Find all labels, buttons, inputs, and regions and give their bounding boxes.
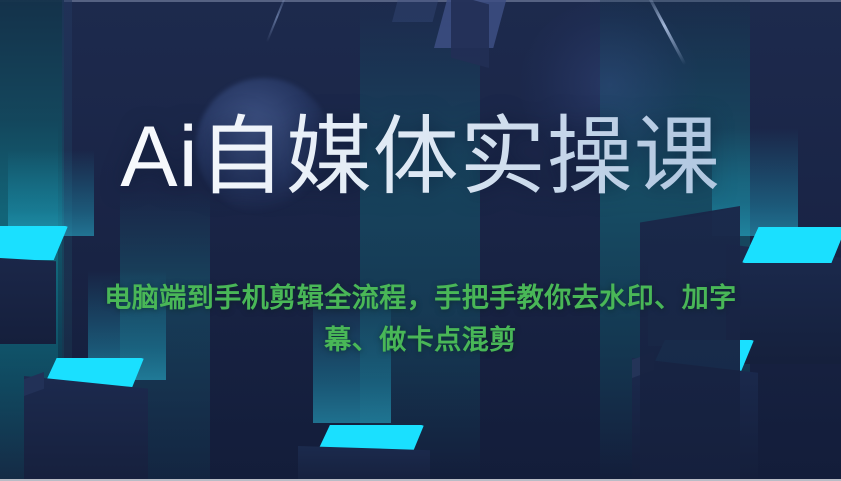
block-top-face — [0, 226, 68, 260]
floating-slab-side — [451, 0, 489, 68]
course-cover-image: Ai自媒体实操课 电脑端到手机剪辑全流程，手把手教你去水印、加字幕、做卡点混剪 — [0, 0, 841, 481]
page-title: Ai自媒体实操课 — [0, 112, 841, 202]
block-top-face — [742, 227, 841, 263]
block-left-upper-body — [0, 256, 56, 344]
block-left-upper — [0, 226, 68, 260]
page-subtitle: 电脑端到手机剪辑全流程，手把手教你去水印、加字幕、做卡点混剪 — [78, 278, 763, 362]
block-left-lower-body — [24, 376, 148, 481]
block-center-bottom-body — [298, 446, 430, 481]
pillar-right-top — [742, 227, 841, 263]
